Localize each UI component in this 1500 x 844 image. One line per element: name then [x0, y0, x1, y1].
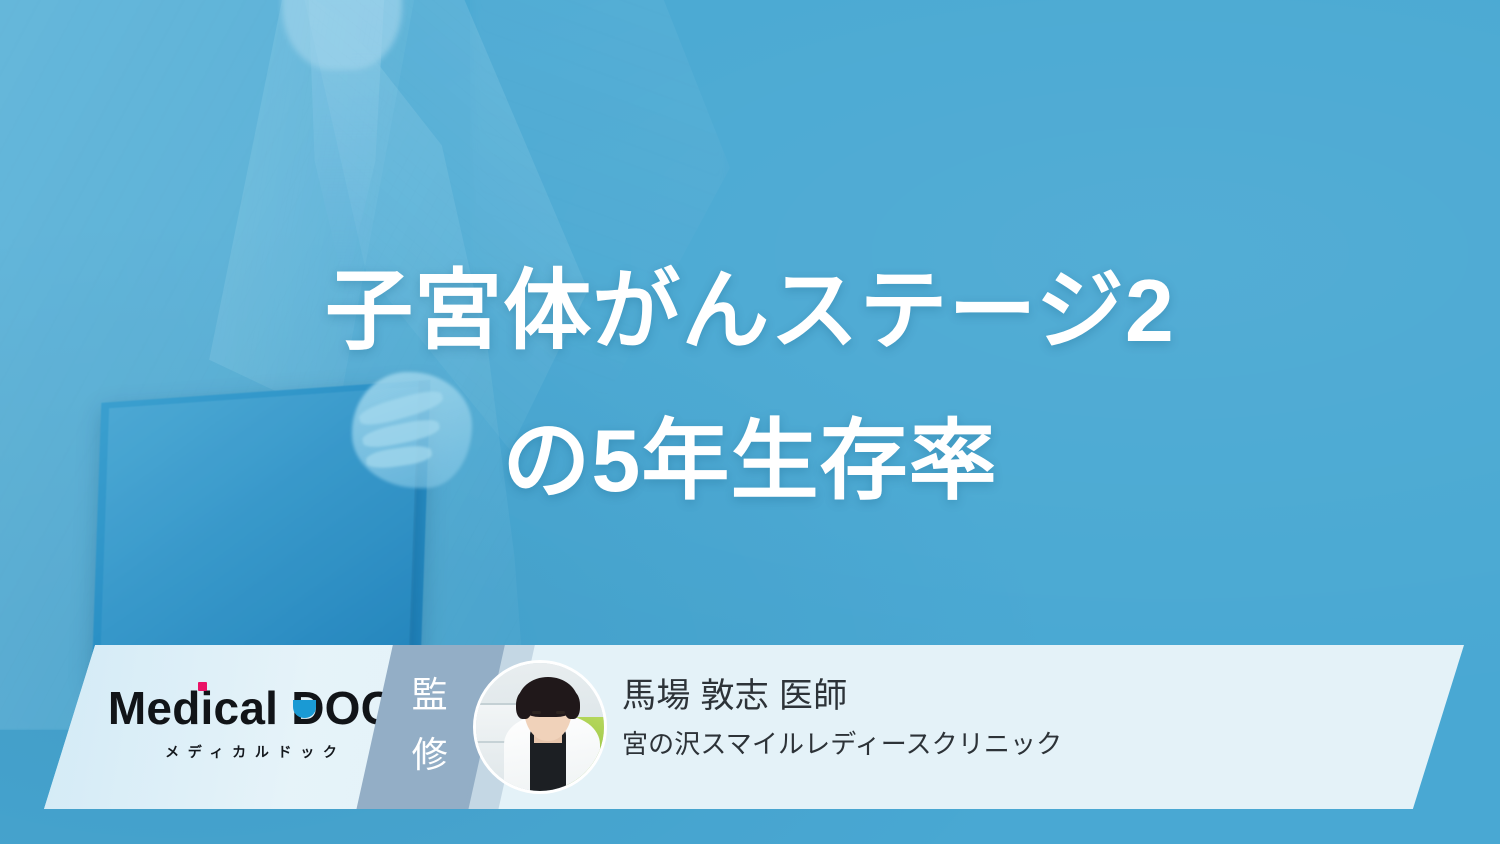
avatar	[476, 663, 604, 791]
page-title: 子宮体がんステージ2 の5年生存率	[0, 236, 1500, 536]
slide-canvas: 子宮体がんステージ2 の5年生存率 Medical DOC メディカルドック 監…	[0, 0, 1500, 844]
avatar-eye-left	[532, 711, 541, 714]
credit-banner: Medical DOC メディカルドック 監 修	[44, 645, 1464, 809]
doctor-name: 馬場 敦志 医師	[622, 671, 1062, 721]
avatar-eye-right	[556, 711, 565, 714]
logo-wordmark: Medical DOC	[108, 685, 394, 731]
supervision-label: 監 修	[390, 665, 470, 785]
avatar-hair-side-left	[516, 691, 532, 719]
supervision-label-char-2: 修	[390, 725, 470, 785]
avatar-hair-side-right	[564, 691, 580, 719]
logo-i-dot-icon	[198, 682, 207, 691]
page-title-line-2: の5年生存率	[0, 386, 1500, 536]
doctor-clinic: 宮の沢スマイルレディースクリニック	[622, 725, 1062, 763]
doctor-credit: 馬場 敦志 医師 宮の沢スマイルレディースクリニック	[622, 671, 1062, 763]
logo-subtitle: メディカルドック	[106, 742, 396, 762]
page-title-line-1: 子宮体がんステージ2	[0, 236, 1500, 386]
medical-doc-logo[interactable]: Medical DOC メディカルドック	[106, 685, 396, 762]
supervision-label-char-1: 監	[390, 665, 470, 725]
